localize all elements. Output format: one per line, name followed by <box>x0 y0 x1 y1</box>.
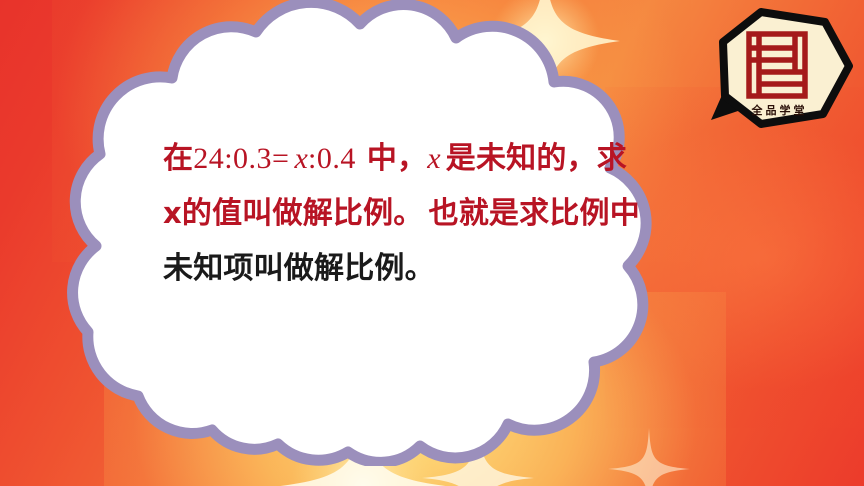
slide-canvas: 在24:0.3=x:0.4中，x是未知的，求 x的值叫做解比例。也就是求比例中 … <box>0 0 864 486</box>
line1-seg-tail: 是未知的，求 <box>446 141 627 176</box>
brand-logo-caption: 全品学堂 <box>703 102 853 118</box>
line3-seg-a: 未知项叫做解比例。 <box>163 251 435 286</box>
line1-seg-x1: x <box>294 142 308 175</box>
brand-logo[interactable]: 全品学堂 <box>703 8 853 130</box>
line1-seg-zai: 在 <box>163 141 193 176</box>
line1-seg-ratio1: 24:0.3= <box>193 142 289 175</box>
line2-seg-a: 的值叫做解比例。 <box>182 196 424 231</box>
line1-seg-zhong: 中， <box>367 141 427 176</box>
lesson-text: 在24:0.3=x:0.4中，x是未知的，求 x的值叫做解比例。也就是求比例中 … <box>163 131 733 296</box>
text-line-1: 在24:0.3=x:0.4中，x是未知的，求 <box>163 131 733 186</box>
line1-seg-x2: x <box>427 142 441 175</box>
line2-seg-x: x <box>163 196 182 230</box>
text-line-2: x的值叫做解比例。也就是求比例中 <box>163 186 733 241</box>
line1-seg-ratio2: :0.4 <box>308 142 356 175</box>
text-line-3: 未知项叫做解比例。 <box>163 241 733 296</box>
line2-seg-b: 也就是求比例中 <box>429 196 640 231</box>
